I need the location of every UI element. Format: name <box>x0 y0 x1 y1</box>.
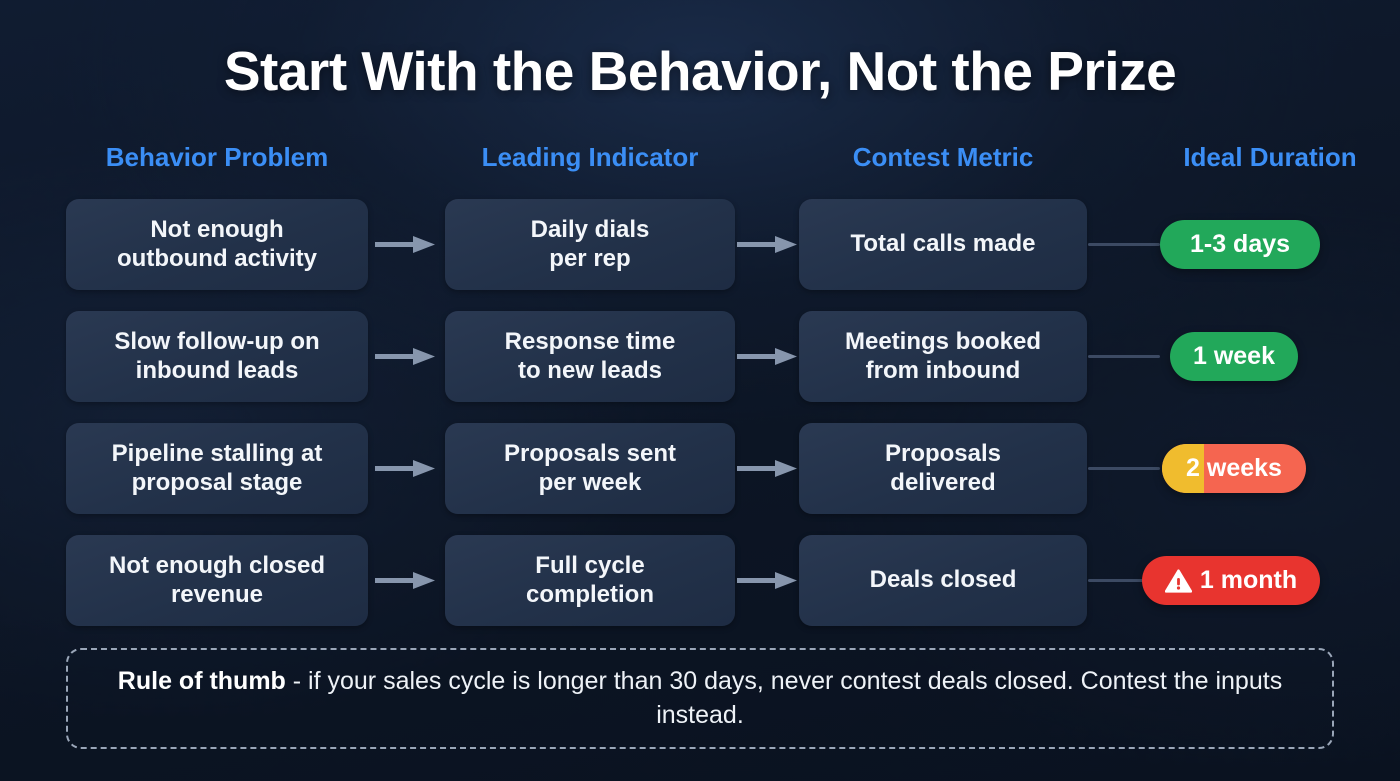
column-header-contest-metric: Contest Metric <box>799 142 1087 173</box>
connector-line <box>1088 243 1160 246</box>
leading-indicator-card: Response time to new leads <box>445 311 735 402</box>
contest-metric-card: Proposals delivered <box>799 423 1087 514</box>
connector-line <box>1088 467 1160 470</box>
matrix-row: Not enough outbound activity Daily dials… <box>66 199 1334 290</box>
warning-triangle-icon <box>1165 569 1192 593</box>
connector-line <box>1088 355 1160 358</box>
arrow-right-icon <box>737 348 797 365</box>
card-line: from inbound <box>845 357 1041 385</box>
rule-of-thumb-body: - if your sales cycle is longer than 30 … <box>286 667 1282 728</box>
arrow-right-icon <box>737 460 797 477</box>
leading-indicator-card: Proposals sent per week <box>445 423 735 514</box>
arrow-right-icon <box>375 236 435 253</box>
page-title: Start With the Behavior, Not the Prize <box>0 39 1400 103</box>
arrow-right-icon <box>375 460 435 477</box>
card-line: per rep <box>531 245 650 273</box>
duration-badge: 2 weeks <box>1162 444 1306 493</box>
behavior-problem-card: Slow follow-up on inbound leads <box>66 311 368 402</box>
behavior-problem-card: Not enough closed revenue <box>66 535 368 626</box>
card-line: inbound leads <box>114 357 319 385</box>
duration-badge-label: 1-3 days <box>1190 230 1290 259</box>
duration-badge-label: 1 week <box>1193 342 1275 371</box>
card-line: per week <box>504 469 676 497</box>
matrix-row: Not enough closed revenue Full cycle com… <box>66 535 1334 626</box>
column-header-row: Behavior Problem Leading Indicator Conte… <box>66 142 1334 180</box>
infographic-root: Start With the Behavior, Not the Prize B… <box>0 0 1400 781</box>
arrow-right-icon <box>375 348 435 365</box>
behavior-problem-card: Pipeline stalling at proposal stage <box>66 423 368 514</box>
card-line: outbound activity <box>117 245 317 273</box>
card-line: Meetings booked <box>845 328 1041 356</box>
arrow-right-icon <box>737 236 797 253</box>
card-line: proposal stage <box>112 469 323 497</box>
card-line: Total calls made <box>851 230 1036 258</box>
matrix-row: Slow follow-up on inbound leads Response… <box>66 311 1334 402</box>
rule-of-thumb-text: Rule of thumb - if your sales cycle is l… <box>104 665 1296 732</box>
contest-metric-card: Total calls made <box>799 199 1087 290</box>
contest-metric-card: Meetings booked from inbound <box>799 311 1087 402</box>
card-line: Slow follow-up on <box>114 328 319 356</box>
card-line: Proposals sent <box>504 440 676 468</box>
card-line: Full cycle <box>526 552 654 580</box>
duration-badge: 1-3 days <box>1160 220 1320 269</box>
arrow-right-icon <box>375 572 435 589</box>
matrix-row: Pipeline stalling at proposal stage Prop… <box>66 423 1334 514</box>
rule-of-thumb-lead: Rule of thumb <box>118 667 286 695</box>
rule-of-thumb-box: Rule of thumb - if your sales cycle is l… <box>66 648 1334 749</box>
arrow-right-icon <box>737 572 797 589</box>
card-line: Deals closed <box>870 566 1017 594</box>
card-line: Not enough <box>117 216 317 244</box>
card-line: Response time <box>505 328 676 356</box>
leading-indicator-card: Daily dials per rep <box>445 199 735 290</box>
behavior-problem-card: Not enough outbound activity <box>66 199 368 290</box>
card-line: delivered <box>885 469 1001 497</box>
contest-metric-card: Deals closed <box>799 535 1087 626</box>
column-header-ideal-duration: Ideal Duration <box>1125 142 1400 173</box>
duration-badge: 1 week <box>1170 332 1298 381</box>
card-line: Daily dials <box>531 216 650 244</box>
duration-badge-label: 1 month <box>1200 566 1297 595</box>
matrix-rows: Not enough outbound activity Daily dials… <box>66 199 1334 647</box>
duration-badge: 1 month <box>1142 556 1320 605</box>
card-line: Proposals <box>885 440 1001 468</box>
card-line: Pipeline stalling at <box>112 440 323 468</box>
leading-indicator-card: Full cycle completion <box>445 535 735 626</box>
card-line: completion <box>526 581 654 609</box>
column-header-behavior-problem: Behavior Problem <box>66 142 368 173</box>
card-line: to new leads <box>505 357 676 385</box>
column-header-leading-indicator: Leading Indicator <box>445 142 735 173</box>
card-line: revenue <box>109 581 325 609</box>
duration-badge-label: 2 weeks <box>1186 454 1282 483</box>
card-line: Not enough closed <box>109 552 325 580</box>
